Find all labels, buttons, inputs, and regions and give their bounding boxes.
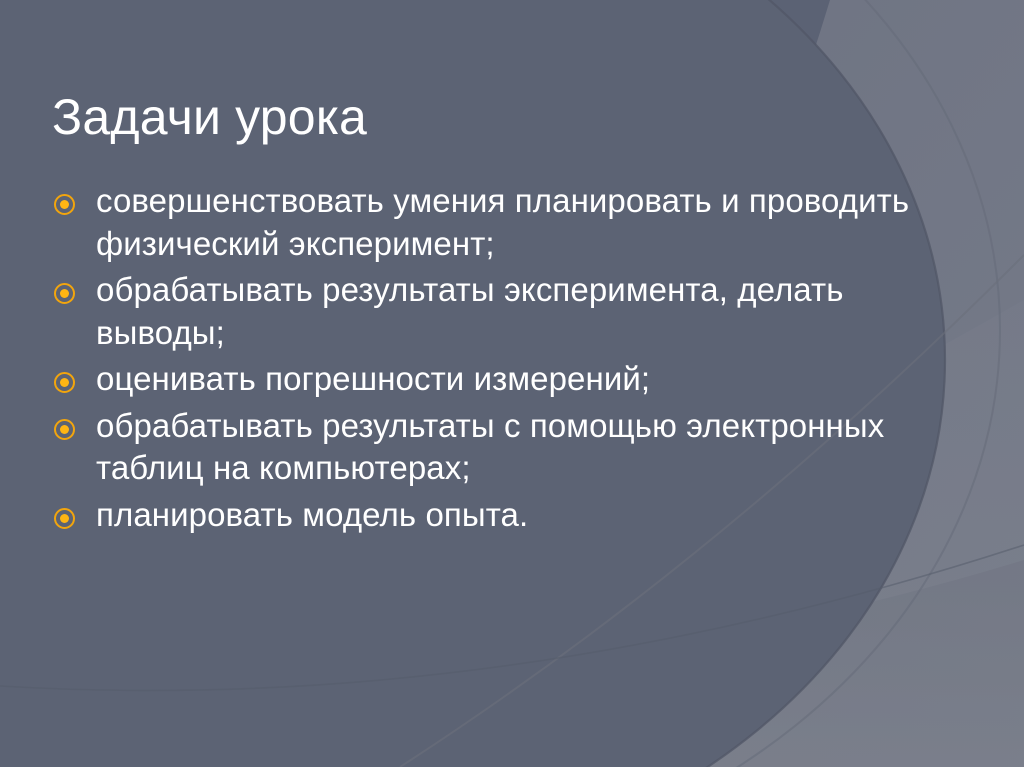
presentation-slide: Задачи урока совершенствовать умения пла… [0, 0, 1024, 767]
ring-dot-bullet-icon [54, 419, 75, 440]
list-item: оценивать погрешности измерений; [54, 358, 934, 401]
page-title: Задачи урока [52, 90, 932, 145]
ring-dot-bullet-icon [54, 283, 75, 304]
list-item: обрабатывать результаты эксперимента, де… [54, 269, 934, 354]
list-item: совершенствовать умения планировать и пр… [54, 180, 934, 265]
list-item-label: оценивать погрешности измерений; [96, 358, 650, 401]
objectives-list: совершенствовать умения планировать и пр… [54, 180, 934, 541]
list-item-label: обрабатывать результаты эксперимента, де… [96, 269, 934, 354]
list-item-label: планировать модель опыта. [96, 494, 528, 537]
list-item-label: обрабатывать результаты с помощью электр… [96, 405, 934, 490]
ring-dot-bullet-icon [54, 508, 75, 529]
ring-dot-bullet-icon [54, 194, 75, 215]
list-item: планировать модель опыта. [54, 494, 934, 537]
ring-dot-bullet-icon [54, 372, 75, 393]
list-item: обрабатывать результаты с помощью электр… [54, 405, 934, 490]
list-item-label: совершенствовать умения планировать и пр… [96, 180, 934, 265]
